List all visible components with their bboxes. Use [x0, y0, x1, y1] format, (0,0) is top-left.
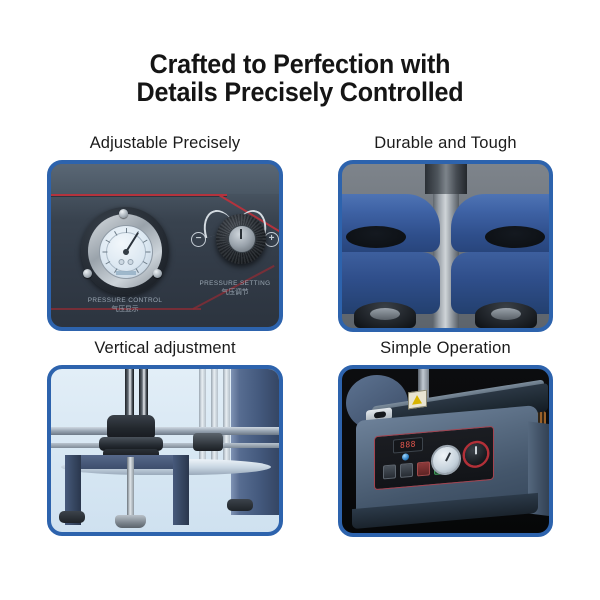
- panel-gauge: [431, 444, 461, 477]
- knob-cap: [228, 225, 256, 253]
- gauge-tick: [103, 252, 108, 253]
- rubber-foot: [227, 499, 253, 511]
- feature-card-simple-operation: Simple Operation 888: [338, 335, 553, 537]
- vertical-rail: [223, 365, 230, 469]
- support-bracket-right: [173, 455, 189, 525]
- feature-grid: Adjustable Precisely: [47, 130, 553, 545]
- bezel-screw-icon: [119, 209, 128, 218]
- decrease-icon[interactable]: −: [191, 232, 206, 247]
- card-photo-vertical-adjustment: [47, 365, 283, 536]
- red-pinstripe-horizontal: [51, 194, 227, 196]
- arm-recess: [346, 226, 406, 248]
- gauge-tick: [126, 228, 127, 233]
- control-button-1[interactable]: [383, 464, 396, 479]
- card-caption: Adjustable Precisely: [47, 130, 283, 156]
- foot-ring: [370, 308, 400, 320]
- gauge-needle-hub: [123, 249, 129, 255]
- card-caption: Durable and Tough: [338, 130, 553, 156]
- page-title: Crafted to Perfection with Details Preci…: [0, 50, 600, 106]
- gauge-tick: [143, 240, 148, 243]
- bezel-screw-icon: [153, 269, 162, 278]
- bezel-screw-icon: [83, 269, 92, 278]
- gauge-face-sticker: [116, 271, 136, 275]
- shaft-top-housing: [425, 164, 467, 194]
- warning-label-icon: [408, 390, 427, 410]
- increase-icon[interactable]: +: [264, 232, 279, 247]
- feature-card-adjustable-precisely: Adjustable Precisely: [47, 130, 283, 331]
- rod-pressure-pad: [115, 515, 146, 528]
- digital-display-value: 888: [400, 441, 416, 450]
- control-button-stop[interactable]: [417, 461, 430, 476]
- upper-left-arm: [338, 194, 440, 252]
- gauge-tick: [136, 268, 139, 273]
- gauge-caption: PRESSURE CONTROL 气压显示: [65, 297, 185, 314]
- pressure-setting-knob[interactable]: [216, 214, 266, 264]
- temperature-knob[interactable]: [465, 442, 487, 466]
- rubber-foot: [59, 511, 85, 523]
- arm-recess: [485, 226, 545, 248]
- upper-right-arm: [451, 194, 553, 252]
- digital-display: 888: [393, 437, 423, 454]
- right-foot: [475, 302, 537, 328]
- machine-sidewall-edge: [231, 365, 239, 515]
- horizontal-beam-secondary: [47, 443, 283, 448]
- gauge-bezel: [88, 214, 162, 288]
- gauge-tick: [143, 261, 148, 264]
- card-caption: Simple Operation: [338, 335, 553, 361]
- left-foot: [354, 302, 416, 328]
- card-caption: Vertical adjustment: [47, 335, 283, 361]
- status-led-icon: [402, 453, 409, 461]
- adjustment-rod[interactable]: [127, 457, 134, 519]
- foot-ring: [491, 308, 521, 320]
- gauge-sub-dials: [119, 259, 134, 265]
- knob-caption-en: PRESSURE SETTING: [185, 280, 283, 288]
- feature-card-durable-and-tough: Durable and Tough: [338, 130, 553, 332]
- control-button-2[interactable]: [400, 463, 413, 478]
- gauge-caption-cn: 气压显示: [65, 306, 185, 314]
- machine-sidewall: [235, 365, 281, 515]
- knob-caption-cn: 气压调节: [185, 289, 283, 297]
- card-photo-pressure-panel: PRESSURE CONTROL 气压显示 − + PRESSURE SETTI…: [47, 160, 283, 331]
- vertical-rail: [199, 365, 206, 469]
- vertical-rail: [211, 365, 218, 469]
- horizontal-beam: [47, 427, 283, 435]
- pressure-setting-knob-assembly[interactable]: − +: [189, 212, 281, 274]
- card-photo-control-box: 888: [338, 365, 553, 537]
- panel-top-band: [51, 164, 279, 194]
- gauge-tick: [146, 252, 151, 253]
- infographic-page: Crafted to Perfection with Details Preci…: [0, 0, 600, 600]
- rail-collar: [193, 433, 223, 451]
- pressure-gauge: [81, 207, 169, 295]
- knob-caption: PRESSURE SETTING 气压调节: [185, 280, 283, 297]
- gauge-face: [99, 225, 153, 279]
- feature-card-vertical-adjustment: Vertical adjustment: [47, 335, 283, 536]
- gauge-caption-en: PRESSURE CONTROL: [65, 297, 185, 305]
- card-photo-machine-arms: [338, 160, 553, 332]
- title-line-2: Details Precisely Controlled: [21, 78, 579, 106]
- control-panel[interactable]: 888: [374, 426, 494, 490]
- title-line-1: Crafted to Perfection with: [21, 50, 579, 78]
